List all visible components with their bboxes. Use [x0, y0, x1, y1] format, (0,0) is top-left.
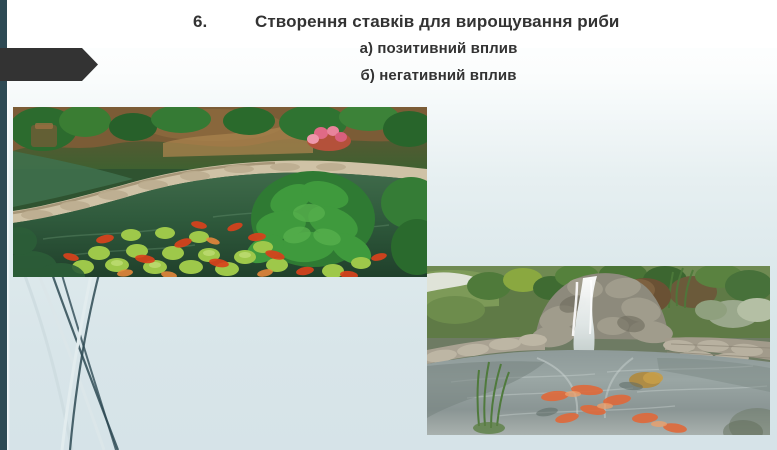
sub-item-positive: а) позитивний вплив	[0, 40, 777, 58]
sub-item-negative-label: б) негативний вплив	[360, 67, 516, 84]
koi-lily-pond-illustration	[13, 107, 427, 277]
sub-item-positive-label: а) позитивний вплив	[360, 40, 518, 57]
presentation-slide: 6. Створення ставків для вирощування риб…	[0, 0, 777, 450]
page-title: Створення ставків для вирощування риби	[255, 12, 619, 32]
photo-koi-lily-pond	[13, 107, 427, 277]
title-number: 6.	[193, 12, 255, 32]
waterfall-pond-illustration	[427, 266, 770, 435]
sub-item-negative: б) негативний вплив	[0, 67, 777, 85]
photo-waterfall-rock-pond	[427, 266, 770, 435]
title-row: 6. Створення ставків для вирощування риб…	[0, 12, 777, 32]
title-block: 6. Створення ставків для вирощування риб…	[0, 12, 777, 85]
